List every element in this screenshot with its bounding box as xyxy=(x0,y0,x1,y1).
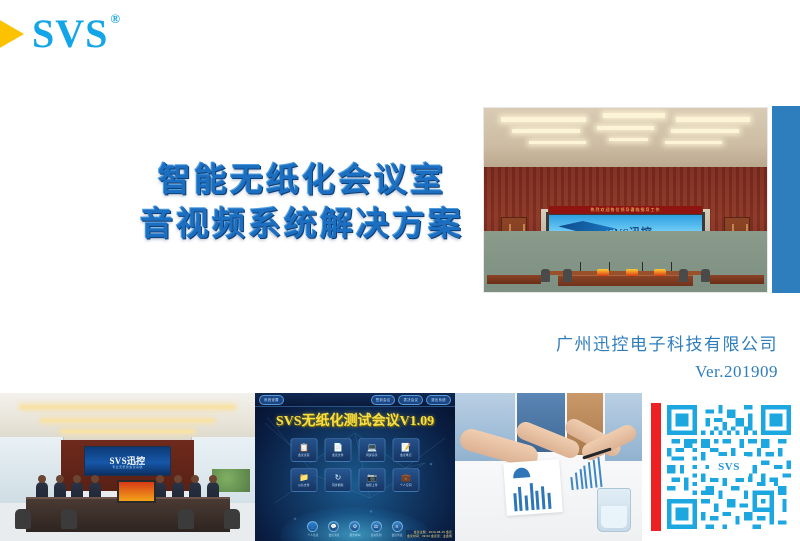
meeting-photo: SVS迅控 专业无纸化会议系统 xyxy=(0,393,255,541)
person-icon: 👤 xyxy=(307,521,318,532)
qr-center-logo: SVS xyxy=(709,456,749,478)
secondary-chart xyxy=(566,456,617,491)
company-name: 广州迅控电子科技有限公司 xyxy=(556,330,778,355)
app-tile-label: 会议文件 xyxy=(332,453,344,457)
dock-label: 会议消息 xyxy=(329,533,340,537)
welcome-banner: 热烈欢迎各位领导耆临指导工作 xyxy=(549,206,701,214)
title-line-1: 智能无纸化会议室 xyxy=(112,158,492,202)
ceiling xyxy=(484,108,767,169)
blue-accent-bar xyxy=(772,106,800,293)
title-line-2: 音视频系统解决方案 xyxy=(112,202,492,246)
app-tile[interactable]: 💻 同屏演示 xyxy=(359,438,386,462)
app-tile-label: 会议笔记 xyxy=(400,453,412,457)
app-tile[interactable]: 📷 拍照上传 xyxy=(359,468,386,492)
floor xyxy=(484,231,767,292)
dock-button[interactable]: 👤 个人信息 xyxy=(307,521,319,537)
app-tile[interactable]: 💼 个人空间 xyxy=(393,468,420,492)
chart-printout xyxy=(504,459,564,516)
qr-code[interactable]: SVS xyxy=(667,405,791,529)
note-edit-icon: 📝 xyxy=(401,444,411,452)
document-icon: 📄 xyxy=(333,444,343,452)
app-tile[interactable]: 📝 会议笔记 xyxy=(393,438,420,462)
play-triangle-icon xyxy=(0,19,24,49)
app-icon-grid: 📋 会议议程 📄 会议文件 💻 同屏演示 📝 会议笔记 📁 公共文 xyxy=(291,438,420,492)
water-glass xyxy=(597,488,631,532)
dock-button[interactable]: 💬 会议消息 xyxy=(328,521,340,537)
app-tile[interactable]: 📋 会议议程 xyxy=(291,438,318,462)
meeting-status-text: 会议主题：2019-08-15 会议 会议时间：09:00 会议室：主会场 xyxy=(406,530,453,538)
dock-button[interactable]: ⚙ 服务呼叫 xyxy=(349,521,361,537)
logo-wordmark: SVS® xyxy=(32,14,119,54)
business-discussion-photo xyxy=(455,393,642,541)
dock-label: 个人信息 xyxy=(308,533,319,537)
conference-room-render: 欢迎 指导 热烈欢迎各位领导耆临指导工作 SVS迅控 专业音视频设备解决方案 xyxy=(483,107,768,293)
app-tile-label: 拍照上传 xyxy=(366,483,378,487)
dock-button[interactable]: ⚖ 表决签到 xyxy=(370,521,382,537)
clipboard-icon: 📋 xyxy=(299,444,309,452)
svs-logo: SVS® xyxy=(0,14,119,54)
presentation-cover-slide: SVS® 智能无纸化会议室 音视频系统解决方案 欢迎 指导 xyxy=(0,0,800,541)
version-label: Ver.201909 xyxy=(695,362,778,382)
page-title: 智能无纸化会议室 音视频系统解决方案 xyxy=(112,158,492,246)
refresh-icon: ↻ xyxy=(335,474,342,482)
briefcase-icon: 💼 xyxy=(401,474,411,482)
screen-share-icon: 💻 xyxy=(367,444,377,452)
software-title: SVS无纸化测试会议V1.09 xyxy=(276,410,434,430)
paperless-software-screenshot: 系统设置 签到会议 表决会议 退出系统 SVS无纸化测试会议V1.09 📋 会议… xyxy=(255,393,455,541)
red-accent-bar xyxy=(651,403,661,531)
status-line-2: 会议时间：09:00 会议室：主会场 xyxy=(406,534,453,538)
dock-label: 会议列表 xyxy=(392,533,403,537)
message-icon: 💬 xyxy=(328,521,339,532)
topbar-button-signin[interactable]: 签到会议 xyxy=(371,395,396,405)
dock-button[interactable]: ≡ 会议列表 xyxy=(391,521,403,537)
app-tile-label: 公共文件 xyxy=(298,483,310,487)
camera-icon: 📷 xyxy=(367,474,377,482)
dock-label: 表决签到 xyxy=(371,533,382,537)
app-tile[interactable]: 📄 会议文件 xyxy=(325,438,352,462)
qr-code-block: SVS xyxy=(642,393,800,541)
folder-icon: 📁 xyxy=(299,474,309,482)
app-tile[interactable]: 📁 公共文件 xyxy=(291,468,318,492)
app-tile-label: 同步刷新 xyxy=(332,483,344,487)
software-topbar: 系统设置 签到会议 表决会议 退出系统 xyxy=(255,393,455,407)
logo-text: SVS xyxy=(32,11,108,56)
dock-label: 服务呼叫 xyxy=(350,533,361,537)
topbar-left-button[interactable]: 系统设置 xyxy=(259,395,284,405)
screen-subtitle-text: 专业无纸化会议系统 xyxy=(112,465,143,469)
list-icon: ≡ xyxy=(392,521,403,532)
registered-trademark-icon: ® xyxy=(110,11,121,26)
topbar-button-exit[interactable]: 退出系统 xyxy=(426,395,451,405)
qr-center-text: SVS xyxy=(718,461,740,473)
app-tile-label: 同屏演示 xyxy=(366,453,378,457)
bottom-image-strip: SVS迅控 专业无纸化会议系统 xyxy=(0,393,800,541)
app-tile[interactable]: ↻ 同步刷新 xyxy=(325,468,352,492)
app-tile-label: 会议议程 xyxy=(298,453,310,457)
service-icon: ⚙ xyxy=(349,521,360,532)
app-tile-label: 个人空间 xyxy=(400,483,412,487)
vote-icon: ⚖ xyxy=(371,521,382,532)
topbar-button-vote[interactable]: 表决会议 xyxy=(398,395,423,405)
led-screen: SVS迅控 专业无纸化会议系统 xyxy=(84,446,171,476)
